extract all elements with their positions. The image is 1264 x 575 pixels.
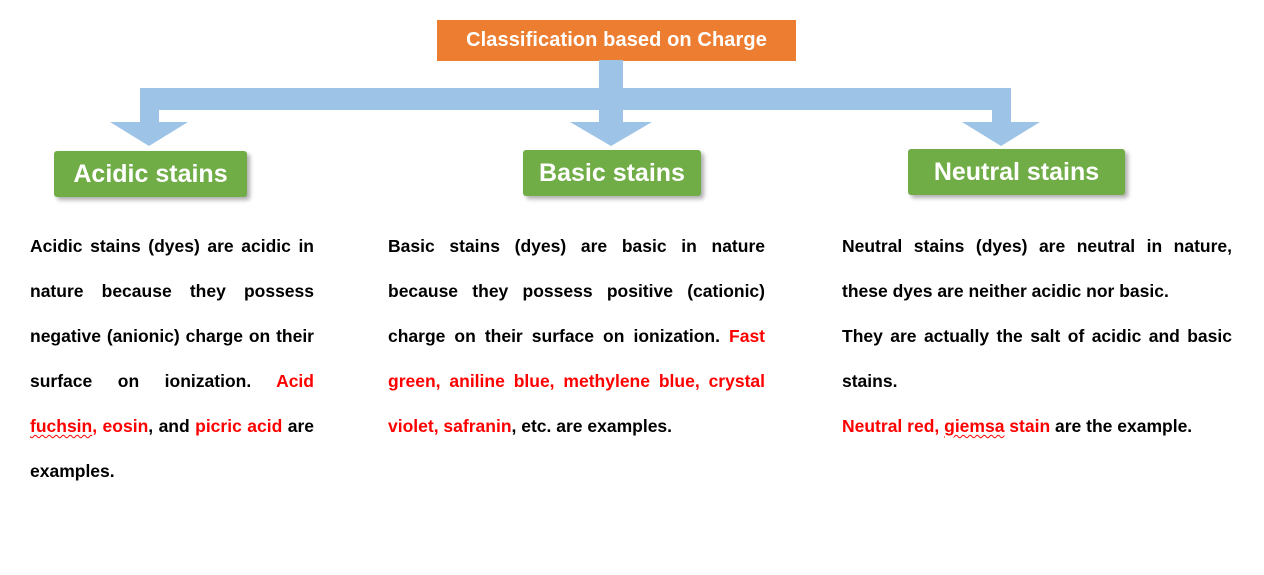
text-run: Acid: [276, 371, 314, 391]
text-run: ,: [92, 416, 102, 436]
arrow-down-basic: [570, 110, 652, 146]
text-run: Neutral red,: [842, 416, 944, 436]
description-column-neutral: Neutral stains (dyes) are neutral in nat…: [842, 224, 1232, 449]
category-label-basic: Basic stains: [539, 159, 685, 188]
text-run: Acidic stains (dyes) are acidic in natur…: [30, 236, 314, 391]
paragraph: Acidic stains (dyes) are acidic in natur…: [30, 224, 314, 494]
text-run: Neutral stains (dyes) are neutral in nat…: [842, 236, 1232, 301]
text-run: picric acid: [195, 416, 282, 436]
connector-stem-center: [599, 60, 623, 90]
classification-header-box: Classification based on Charge: [437, 20, 796, 61]
paragraph: Neutral stains (dyes) are neutral in nat…: [842, 224, 1232, 314]
text-run: Basic stains (dyes) are basic in nature …: [388, 236, 765, 346]
paragraph: Neutral red, giemsa stain are the exampl…: [842, 404, 1232, 449]
paragraph: They are actually the salt of acidic and…: [842, 314, 1232, 404]
category-box-basic: Basic stains: [523, 150, 701, 196]
text-run: are the example.: [1050, 416, 1192, 436]
text-run: stain: [1004, 416, 1050, 436]
category-box-acidic: Acidic stains: [54, 151, 247, 197]
description-column-basic: Basic stains (dyes) are basic in nature …: [388, 224, 765, 449]
text-run: , etc. are examples.: [512, 416, 673, 436]
text-run: , and: [148, 416, 195, 436]
connector-bus: [140, 88, 1011, 110]
arrow-down-acidic: [110, 110, 188, 146]
text-run: eosin: [103, 416, 149, 436]
spellcheck-underlined-word: giemsa: [944, 416, 1004, 436]
arrow-down-neutral: [962, 110, 1040, 146]
description-column-acidic: Acidic stains (dyes) are acidic in natur…: [30, 224, 314, 494]
spellcheck-underlined-word: fuchsin: [30, 416, 92, 436]
category-label-acidic: Acidic stains: [73, 160, 227, 189]
category-label-neutral: Neutral stains: [934, 158, 1099, 187]
paragraph: Basic stains (dyes) are basic in nature …: [388, 224, 765, 449]
category-box-neutral: Neutral stains: [908, 149, 1125, 195]
classification-header-label: Classification based on Charge: [466, 29, 767, 52]
text-run: They are actually the salt of acidic and…: [842, 326, 1232, 391]
